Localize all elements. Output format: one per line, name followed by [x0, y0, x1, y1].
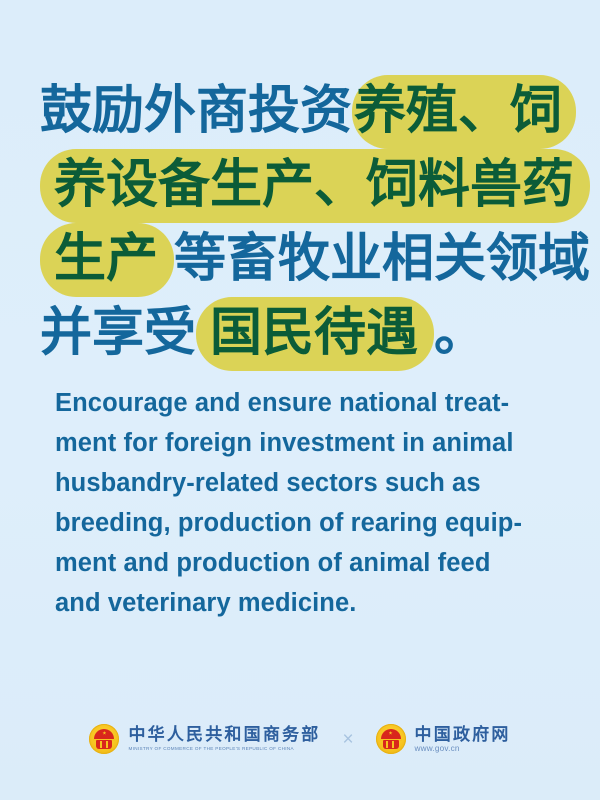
body-line: husbandry-related sectors such as	[55, 463, 555, 503]
headline-segment-plain: 并享受	[40, 304, 196, 362]
headline-segment-highlight: 养设备生产、饲料兽药	[40, 149, 590, 223]
logo-gov-cn-name-cn: 中国政府网	[415, 725, 511, 744]
body-line: and veterinary medicine.	[55, 583, 555, 623]
body-line: ment for foreign investment in animal	[55, 423, 555, 463]
logo-mofcom-text: 中华人民共和国商务部 MINISTRY OF COMMERCE OF THE P…	[128, 725, 320, 753]
logo-gov-cn[interactable]: 中国政府网 www.gov.cn	[376, 724, 511, 754]
china-national-emblem-icon	[376, 724, 406, 754]
body-line: ment and production of animal feed	[55, 543, 555, 583]
headline-line-4: 并享受国民待遇。	[40, 296, 560, 370]
logo-gov-cn-url: www.gov.cn	[415, 744, 511, 753]
body-line: Encourage and ensure national treat-	[55, 383, 555, 423]
headline-line-3: 生产等畜牧业相关领域	[40, 222, 560, 296]
china-national-emblem-icon	[89, 724, 119, 754]
headline-segment-plain: 鼓励外商投资	[40, 82, 352, 140]
headline-block: 鼓励外商投资养殖、饲 养设备生产、饲料兽药 生产等畜牧业相关领域 并享受国民待遇…	[40, 74, 560, 370]
headline-segment-plain: 等畜牧业相关领域	[174, 230, 590, 288]
body-line: breeding, production of rearing equip-	[55, 503, 555, 543]
logo-mofcom[interactable]: 中华人民共和国商务部 MINISTRY OF COMMERCE OF THE P…	[89, 724, 320, 754]
logo-mofcom-name-cn: 中华人民共和国商务部	[128, 725, 320, 744]
body-paragraph-english: Encourage and ensure national treat- men…	[55, 383, 555, 623]
logo-mofcom-subtitle-en: MINISTRY OF COMMERCE OF THE PEOPLE'S REP…	[128, 744, 320, 753]
headline-line-2: 养设备生产、饲料兽药	[40, 148, 560, 222]
footer-logo-bar: 中华人民共和国商务部 MINISTRY OF COMMERCE OF THE P…	[0, 706, 600, 772]
headline-segment-highlight: 生产	[40, 223, 174, 297]
headline-segment-highlight: 国民待遇	[196, 297, 434, 371]
headline-line-1: 鼓励外商投资养殖、饲	[40, 74, 560, 148]
poster-canvas: 鼓励外商投资养殖、饲 养设备生产、饲料兽药 生产等畜牧业相关领域 并享受国民待遇…	[0, 0, 600, 800]
headline-segment-highlight: 养殖、饲	[352, 75, 576, 149]
logo-separator-x-icon: ×	[342, 730, 353, 749]
headline-segment-period: 。	[434, 304, 486, 362]
logo-gov-cn-text: 中国政府网 www.gov.cn	[415, 725, 511, 753]
